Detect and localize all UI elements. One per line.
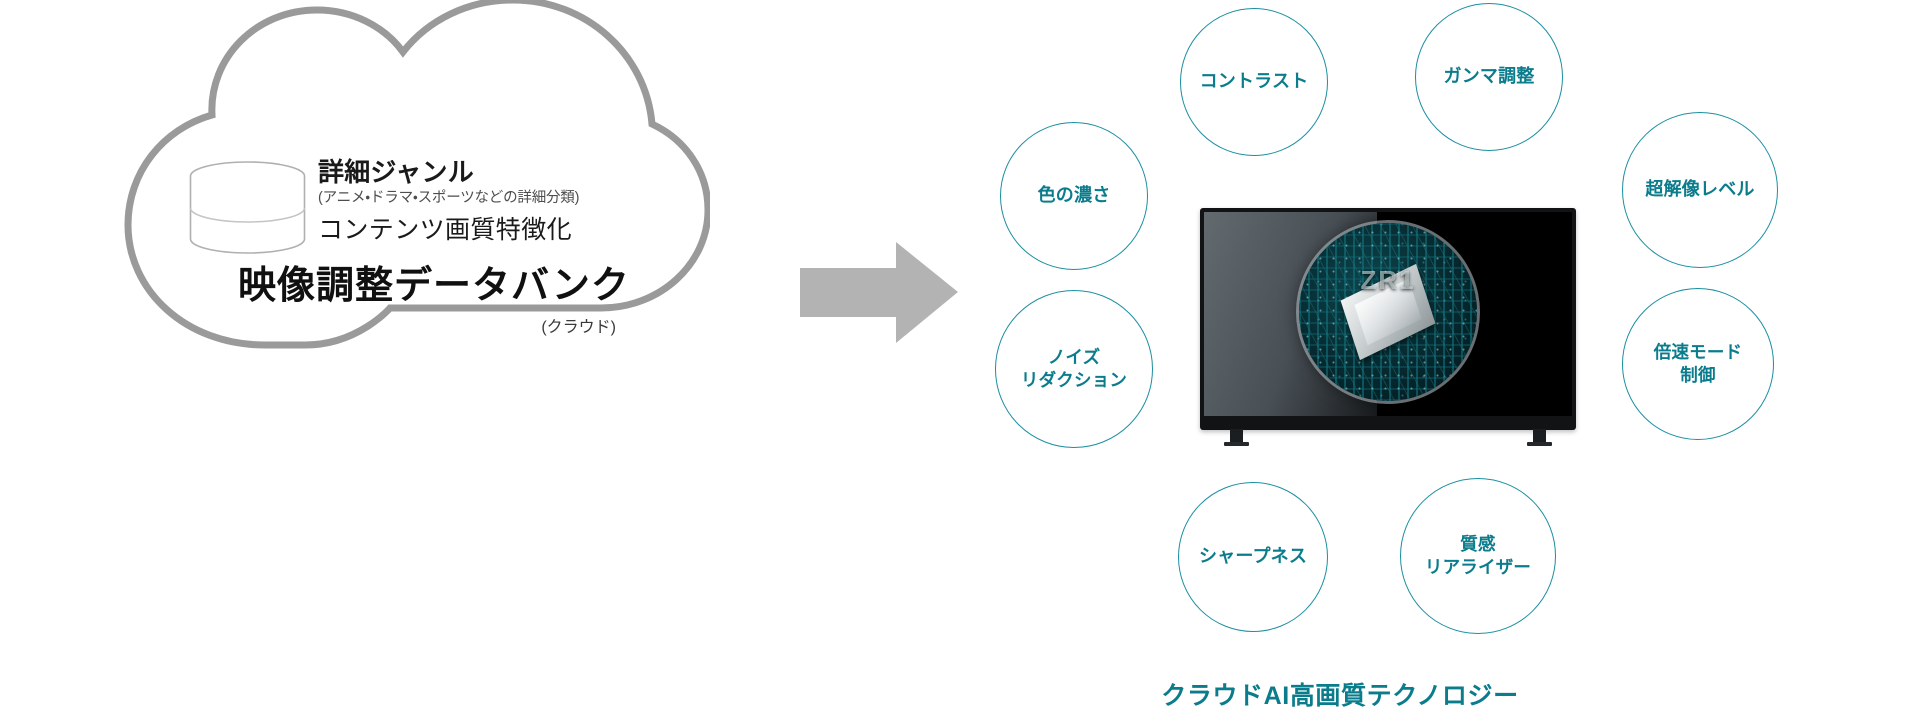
feature-circle-sharpness[interactable]: シャープネス — [1178, 482, 1328, 632]
feature-label-noise-reduction: ノイズ リダクション — [1015, 346, 1133, 392]
feature-label-super-resolution: 超解像レベル — [1639, 178, 1760, 202]
feature-circle-color-density[interactable]: 色の濃さ — [1000, 122, 1148, 270]
feature-circle-motion-mode[interactable]: 倍速モード 制御 — [1622, 288, 1774, 440]
feature-circle-noise-reduction[interactable]: ノイズ リダクション — [995, 290, 1153, 448]
genre-title: 詳細ジャンル — [318, 158, 698, 188]
bank-title-block: 映像調整データバンク (クラウド) — [238, 265, 668, 337]
feature-label-sharpness: シャープネス — [1193, 545, 1313, 569]
bank-subtitle: (クラウド) — [238, 313, 668, 337]
tv-leg-right — [1533, 429, 1546, 446]
cloud-text-block: 詳細ジャンル (アニメ・ドラマ・スポーツなどの詳細分類) コンテンツ画質特徴化 — [318, 158, 698, 249]
tv-bezel: ZR1 — [1200, 208, 1576, 430]
feature-circle-contrast[interactable]: コントラスト — [1180, 8, 1328, 156]
feature-label-motion-mode: 倍速モード 制御 — [1648, 341, 1749, 387]
diagram-caption: クラウドAI高画質テクノロジー — [1100, 676, 1580, 712]
feature-circle-gamma[interactable]: ガンマ調整 — [1415, 3, 1563, 151]
genre-note: (アニメ・ドラマ・スポーツなどの詳細分類) — [318, 188, 698, 210]
feature-label-contrast: コントラスト — [1194, 70, 1315, 94]
right-arrow-icon — [800, 240, 960, 345]
tv-screen: ZR1 — [1204, 212, 1572, 416]
feature-circle-super-resolution[interactable]: 超解像レベル — [1622, 112, 1778, 268]
tv-illustration: ZR1 — [1200, 208, 1576, 430]
tv-leg-left — [1230, 429, 1243, 446]
feature-label-texture-realizer: 質感 リアライザー — [1419, 533, 1537, 579]
bank-title: 映像調整データバンク — [238, 265, 668, 309]
diagram-canvas: 詳細ジャンル (アニメ・ドラマ・スポーツなどの詳細分類) コンテンツ画質特徴化 … — [0, 0, 1920, 720]
chip-circle-graphic — [1299, 223, 1477, 401]
feature-label-color-density: 色の濃さ — [1032, 184, 1117, 208]
content-feature-line: コンテンツ画質特徴化 — [318, 212, 698, 250]
feature-circle-texture-realizer[interactable]: 質感 リアライザー — [1400, 478, 1556, 634]
cloud-shape-group: 詳細ジャンル (アニメ・ドラマ・スポーツなどの詳細分類) コンテンツ画質特徴化 … — [90, 0, 710, 390]
feature-label-gamma: ガンマ調整 — [1438, 65, 1541, 89]
database-cylinder-icon — [185, 160, 310, 255]
